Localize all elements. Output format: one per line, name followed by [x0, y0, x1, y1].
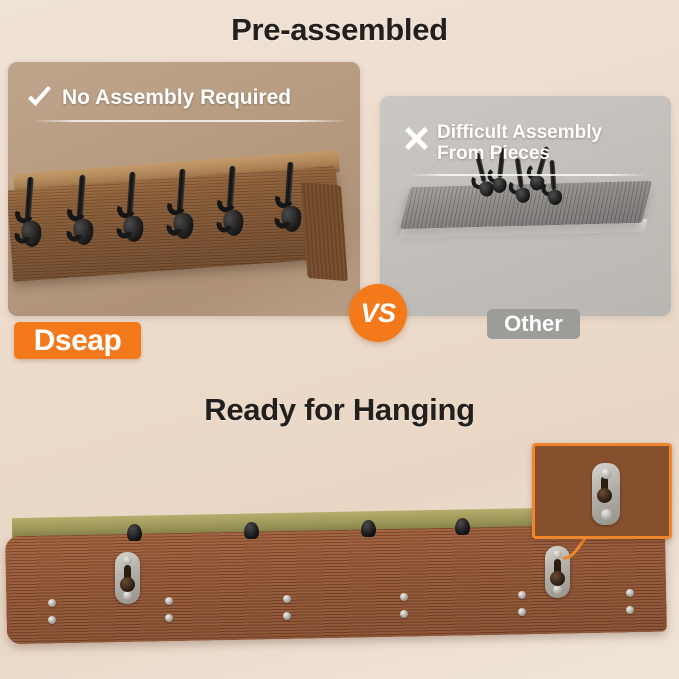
rack-hook — [64, 174, 99, 248]
keyhole-bracket-magnified — [592, 463, 620, 525]
page-title-pre-assembled: Pre-assembled — [0, 12, 679, 48]
mounting-screw — [165, 597, 173, 605]
infographic-stage: Pre-assembled No Assembly Req — [0, 0, 679, 679]
keyhole-bracket — [115, 552, 140, 604]
page-title-ready-for-hanging: Ready for Hanging — [0, 392, 679, 428]
other-claim-line2: From Pieces — [437, 143, 550, 164]
keyhole-screw — [601, 468, 612, 479]
hook-tip — [361, 520, 376, 537]
dseap-claim: No Assembly Required — [26, 86, 291, 110]
cross-mark-icon — [405, 127, 428, 150]
dseap-divider — [32, 120, 348, 122]
rack-hook — [114, 171, 149, 245]
dseap-claim-text: No Assembly Required — [62, 86, 291, 110]
other-claim-line1: Difficult Assembly — [437, 122, 602, 143]
keyhole-screw — [123, 591, 132, 600]
vs-badge: VS — [349, 284, 407, 342]
keyhole-screw — [553, 585, 562, 594]
rack-hook — [272, 161, 307, 235]
hook-tip — [244, 522, 259, 539]
keyhole-detail-callout — [532, 443, 672, 539]
comparison-panel-dseap: No Assembly Required — [8, 62, 360, 316]
mounting-screw — [626, 606, 634, 614]
rack-end-grain — [300, 182, 347, 281]
brand-badge-other: Other — [487, 309, 580, 339]
mounting-screw — [400, 610, 408, 618]
other-claim-text: Difficult Assembly From Pieces — [437, 122, 602, 165]
loose-hook — [541, 159, 566, 206]
mounting-screw — [283, 612, 291, 620]
mounting-screw — [48, 599, 56, 607]
check-mark-icon — [26, 86, 53, 110]
comparison-panel-other: Difficult Assembly From Pieces — [380, 96, 671, 316]
hook-tip — [127, 524, 142, 541]
mounting-screw — [518, 591, 526, 599]
mounting-screw — [400, 593, 408, 601]
keyhole-screw — [123, 556, 132, 565]
rack-hook — [12, 176, 47, 250]
mounting-screw — [626, 589, 634, 597]
rack-hook — [164, 168, 199, 242]
brand-badge-dseap: Dseap — [14, 322, 141, 359]
mounting-screw — [165, 614, 173, 622]
other-claim: Difficult Assembly From Pieces — [405, 122, 602, 165]
keyhole-screw — [601, 509, 612, 520]
mounting-screw — [518, 608, 526, 616]
mounting-screw — [283, 595, 291, 603]
other-divider — [410, 174, 646, 176]
hook-tip — [455, 518, 470, 535]
mounting-screw — [48, 616, 56, 624]
rack-hook — [214, 165, 249, 239]
